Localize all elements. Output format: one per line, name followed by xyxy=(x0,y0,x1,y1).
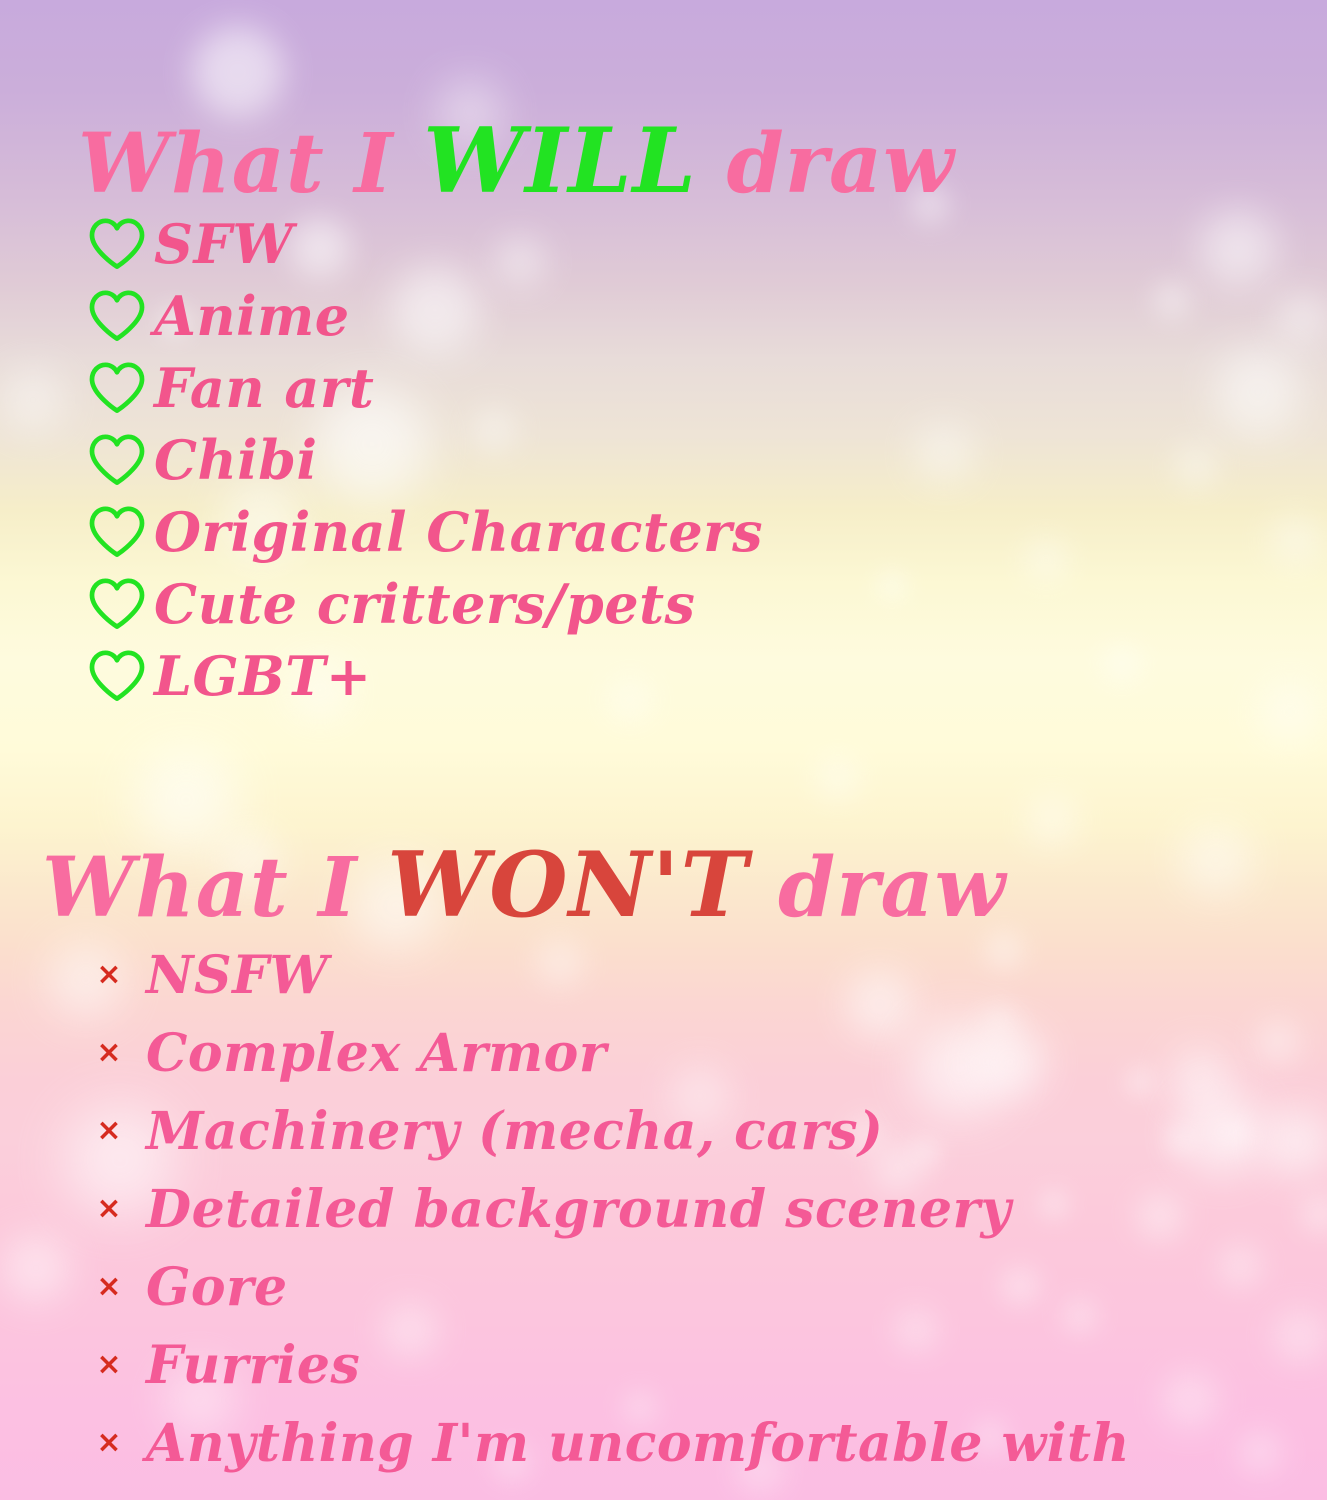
wont-item-label: Detailed background scenery xyxy=(146,1179,1011,1240)
wont-item-label: Machinery (mecha, cars) xyxy=(146,1101,883,1162)
wont-item-label: Anything I'm uncomfortable with xyxy=(146,1413,1130,1474)
will-item-label: Fan art xyxy=(154,356,374,420)
wont-heading-lead: What I xyxy=(42,840,387,936)
will-list-item: SFW xyxy=(86,208,1327,280)
will-heading-tail: draw xyxy=(697,116,955,212)
wont-item-label: Gore xyxy=(146,1257,288,1318)
heart-outline-icon xyxy=(86,501,148,563)
wont-item-label: NSFW xyxy=(146,945,328,1006)
will-item-label: Chibi xyxy=(154,428,318,492)
x-cross-icon: × xyxy=(82,1338,136,1392)
heart-outline-icon xyxy=(86,645,148,707)
x-cross-icon: × xyxy=(82,1104,136,1158)
wont-heading-accent: WON'T xyxy=(387,832,748,938)
will-item-label: Original Characters xyxy=(154,500,763,564)
wont-list-item: ×Detailed background scenery xyxy=(82,1170,1327,1248)
will-list-item: Fan art xyxy=(86,352,1327,424)
x-cross-icon: × xyxy=(82,1182,136,1236)
will-heading-accent: WILL xyxy=(423,108,697,214)
will-list-item: Chibi xyxy=(86,424,1327,496)
wont-list-item: ×Furries xyxy=(82,1326,1327,1404)
heart-outline-icon xyxy=(86,429,148,491)
will-draw-heading: What I WILL draw xyxy=(78,108,955,214)
wont-item-label: Complex Armor xyxy=(146,1023,607,1084)
will-heading-lead: What I xyxy=(78,116,423,212)
wont-list-item: ×Anything I'm uncomfortable with xyxy=(82,1404,1327,1482)
wont-heading-tail: draw xyxy=(748,840,1006,936)
wont-item-label: Furries xyxy=(146,1335,360,1396)
will-list-item: Cute critters/pets xyxy=(86,568,1327,640)
heart-outline-icon xyxy=(86,285,148,347)
will-item-label: Cute critters/pets xyxy=(154,572,695,636)
will-list-item: Original Characters xyxy=(86,496,1327,568)
wont-draw-heading: What I WON'T draw xyxy=(42,832,1006,938)
heart-outline-icon xyxy=(86,357,148,419)
x-cross-icon: × xyxy=(82,1416,136,1470)
x-cross-icon: × xyxy=(82,1260,136,1314)
will-draw-list: SFWAnimeFan artChibiOriginal CharactersC… xyxy=(86,208,1327,712)
will-list-item: LGBT+ xyxy=(86,640,1327,712)
will-item-label: LGBT+ xyxy=(154,644,372,708)
heart-outline-icon xyxy=(86,213,148,275)
x-cross-icon: × xyxy=(82,948,136,1002)
wont-list-item: ×Gore xyxy=(82,1248,1327,1326)
heart-outline-icon xyxy=(86,573,148,635)
poster-canvas: What I WILL draw SFWAnimeFan artChibiOri… xyxy=(0,0,1327,1500)
will-item-label: Anime xyxy=(154,284,350,348)
will-list-item: Anime xyxy=(86,280,1327,352)
wont-list-item: ×NSFW xyxy=(82,936,1327,1014)
poster-content: What I WILL draw SFWAnimeFan artChibiOri… xyxy=(0,0,1327,1500)
x-cross-icon: × xyxy=(82,1026,136,1080)
will-item-label: SFW xyxy=(154,212,293,276)
wont-list-item: ×Complex Armor xyxy=(82,1014,1327,1092)
wont-list-item: ×Machinery (mecha, cars) xyxy=(82,1092,1327,1170)
wont-draw-list: ×NSFW×Complex Armor×Machinery (mecha, ca… xyxy=(82,936,1327,1482)
